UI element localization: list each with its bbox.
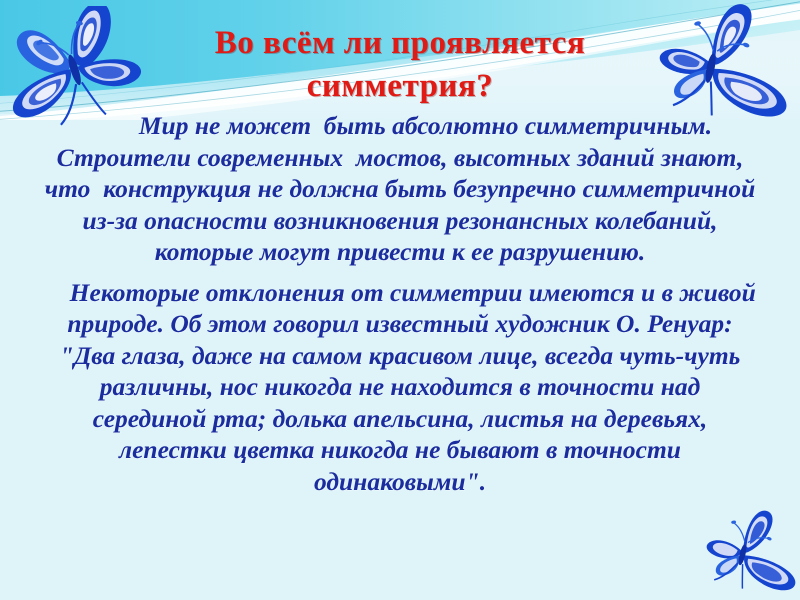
slide-body: Мир не может быть абсолютно симметричным… bbox=[44, 110, 756, 497]
slide-canvas: Во всём ли проявляется симметрия? Мир не… bbox=[0, 0, 800, 600]
slide-title-line-1: Во всём ли проявляется bbox=[0, 22, 800, 65]
butterfly-icon-bottom-right bbox=[700, 505, 800, 597]
slide-title: Во всём ли проявляется симметрия? bbox=[0, 22, 800, 108]
butterfly-bottom-right-graphic bbox=[700, 505, 800, 597]
body-paragraph-2: Некоторые отклонения от симметрии имеютс… bbox=[44, 277, 756, 498]
body-paragraph-1: Мир не может быть абсолютно симметричным… bbox=[44, 110, 756, 268]
slide-title-line-2: симметрия? bbox=[0, 65, 800, 108]
